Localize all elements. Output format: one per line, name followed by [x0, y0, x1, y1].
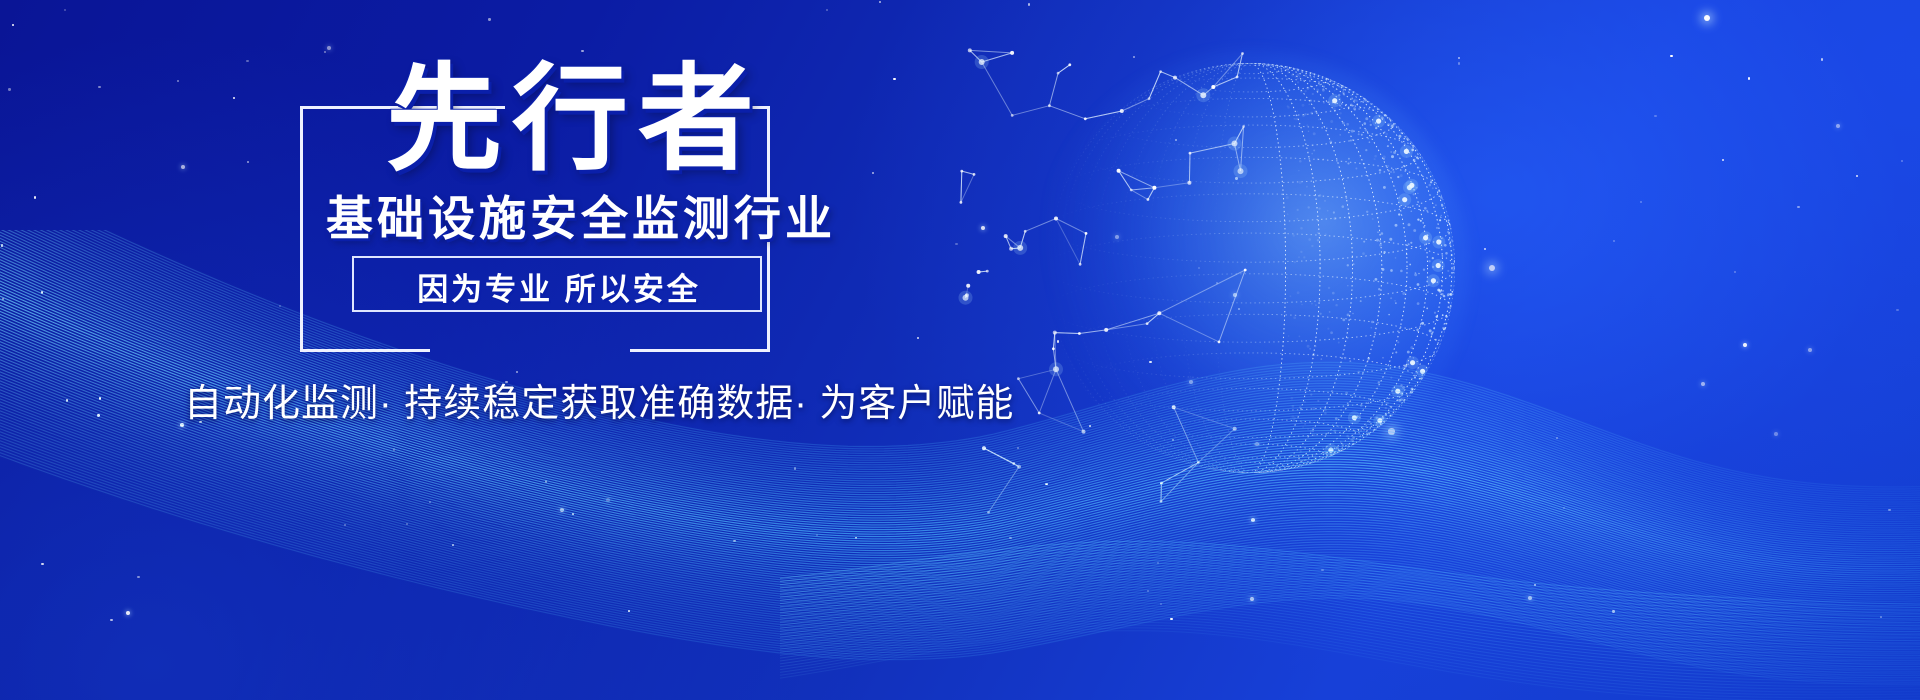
frame-bottom-right-line	[630, 349, 770, 352]
starfield-icon	[0, 0, 1920, 700]
globe-wireframe-icon	[940, 10, 1500, 530]
tagline-text: 因为专业 所以安全	[354, 258, 764, 314]
lead-caption: 自动化监测· 持续稳定获取准确数据· 为客户赋能	[184, 372, 1014, 427]
globe-glow	[1030, 50, 1470, 490]
hero-text-block: 先行者 基础设施安全监测行业 因为专业 所以安全	[300, 52, 820, 352]
hero-banner: 先行者 基础设施安全监测行业 因为专业 所以安全 自动化监测· 持续稳定获取准确…	[0, 0, 1920, 700]
frame-bottom-left-line	[300, 349, 430, 352]
frame-left-line	[300, 106, 303, 352]
globe-svg	[940, 10, 1500, 530]
tagline-box: 因为专业 所以安全	[352, 256, 762, 312]
wave-lines-icon	[0, 230, 1920, 700]
page-title: 先行者	[386, 60, 764, 178]
page-subtitle: 基础设施安全监测行业	[326, 194, 836, 243]
